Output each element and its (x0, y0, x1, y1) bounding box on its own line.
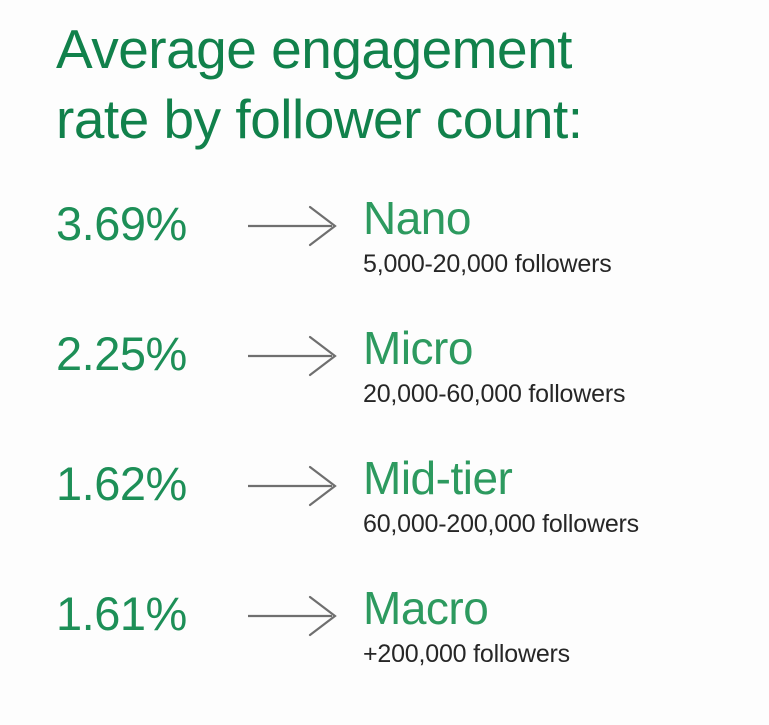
list-item: 1.61% Macro +200,000 followers (0, 580, 769, 710)
arrow-right-icon (247, 204, 339, 248)
tier-block: Macro +200,000 followers (363, 580, 763, 670)
engagement-rate-value: 1.61% (56, 586, 246, 642)
tier-name: Macro (363, 580, 763, 636)
engagement-rate-value: 2.25% (56, 326, 246, 382)
list-item: 2.25% Micro 20,000-60,000 followers (0, 320, 769, 450)
tier-name: Micro (363, 320, 763, 376)
tier-follower-range: 20,000-60,000 followers (363, 378, 763, 410)
tier-list: 3.69% Nano 5,000-20,000 followers 2.25% (0, 190, 769, 710)
page-title: Average engagement rate by follower coun… (56, 14, 716, 154)
tier-block: Mid-tier 60,000-200,000 followers (363, 450, 763, 540)
tier-follower-range: +200,000 followers (363, 638, 763, 670)
arrow-right-icon (247, 594, 339, 638)
infographic-root: Average engagement rate by follower coun… (0, 0, 769, 725)
list-item: 3.69% Nano 5,000-20,000 followers (0, 190, 769, 320)
tier-follower-range: 60,000-200,000 followers (363, 508, 763, 540)
tier-block: Micro 20,000-60,000 followers (363, 320, 763, 410)
engagement-rate-value: 1.62% (56, 456, 246, 512)
list-item: 1.62% Mid-tier 60,000-200,000 followers (0, 450, 769, 580)
tier-follower-range: 5,000-20,000 followers (363, 248, 763, 280)
engagement-rate-value: 3.69% (56, 196, 246, 252)
arrow-right-icon (247, 334, 339, 378)
tier-name: Mid-tier (363, 450, 763, 506)
tier-name: Nano (363, 190, 763, 246)
tier-block: Nano 5,000-20,000 followers (363, 190, 763, 280)
arrow-right-icon (247, 464, 339, 508)
